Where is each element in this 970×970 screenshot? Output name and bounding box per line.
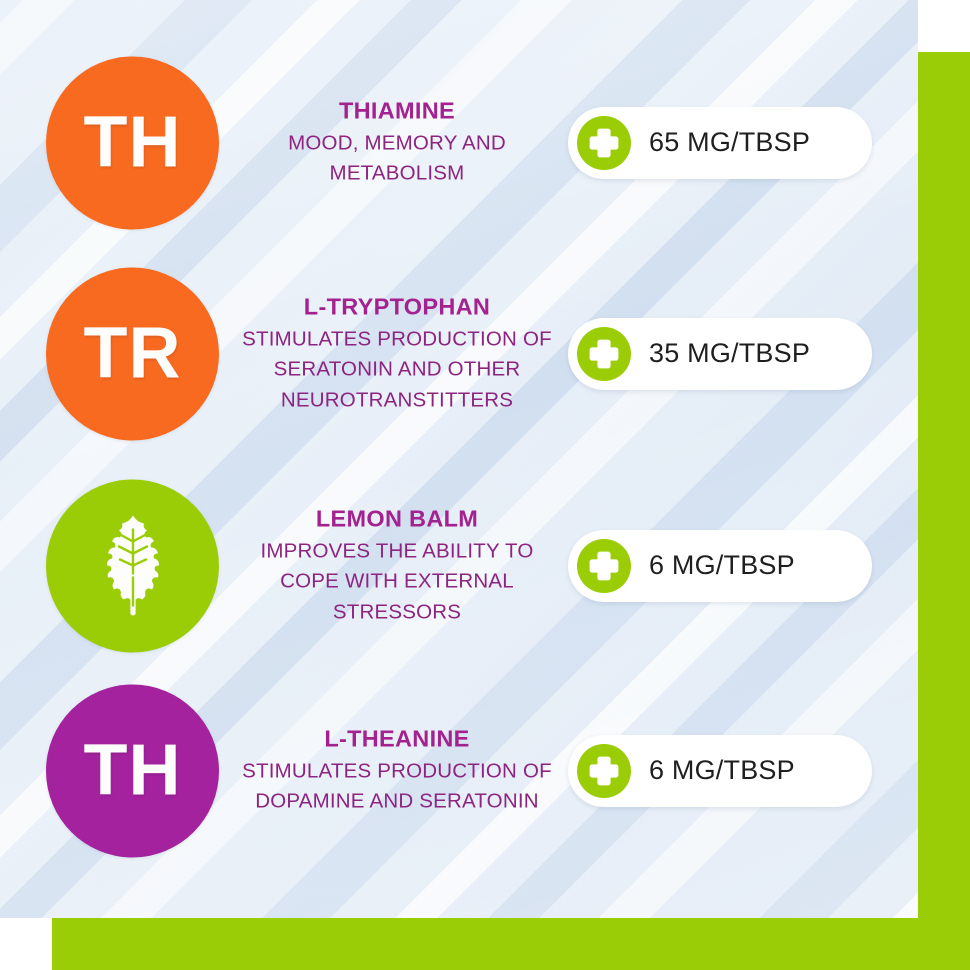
ingredient-title: L-THEANINE: [232, 724, 562, 753]
plus-icon: [577, 539, 631, 593]
ingredient-row: TH L-THEANINE STIMULATES PRODUCTION OF D…: [0, 663, 918, 878]
ingredient-list: TH THIAMINE MOOD, MEMORY AND METABOLISM …: [0, 0, 918, 918]
ingredient-description: STIMULATES PRODUCTION OF SERATONIN AND O…: [232, 324, 562, 415]
badge-abbr-label: TH: [84, 735, 182, 807]
ingredient-badge-l-tryptophan: TR: [46, 267, 219, 440]
ingredient-badge-lemon-balm: [46, 479, 219, 652]
badge-abbr-label: TR: [84, 318, 182, 390]
accent-bar-right: [918, 52, 970, 970]
dosage-value: 6 MG/TBSP: [649, 755, 795, 786]
accent-bar-bottom: [52, 918, 970, 970]
dosage-value: 6 MG/TBSP: [649, 550, 795, 581]
ingredient-row: TH THIAMINE MOOD, MEMORY AND METABOLISM …: [0, 35, 918, 250]
ingredient-row: LEMON BALM IMPROVES THE ABILITY TO COPE …: [0, 458, 918, 673]
dosage-pill: 6 MG/TBSP: [568, 735, 872, 807]
dosage-value: 65 MG/TBSP: [649, 127, 810, 158]
ingredient-badge-thiamine: TH: [46, 56, 219, 229]
ingredient-row: TR L-TRYPTOPHAN STIMULATES PRODUCTION OF…: [0, 246, 918, 461]
plus-icon: [577, 116, 631, 170]
dosage-value: 35 MG/TBSP: [649, 338, 810, 369]
plus-icon: [577, 327, 631, 381]
ingredient-text-block: LEMON BALM IMPROVES THE ABILITY TO COPE …: [232, 504, 562, 627]
ingredient-title: THIAMINE: [232, 96, 562, 125]
badge-abbr-label: TH: [84, 107, 182, 179]
infographic-canvas: TH THIAMINE MOOD, MEMORY AND METABOLISM …: [0, 0, 970, 970]
ingredient-description: IMPROVES THE ABILITY TO COPE WITH EXTERN…: [232, 536, 562, 627]
dosage-pill: 35 MG/TBSP: [568, 318, 872, 390]
ingredient-text-block: THIAMINE MOOD, MEMORY AND METABOLISM: [232, 96, 562, 189]
dosage-pill: 6 MG/TBSP: [568, 530, 872, 602]
leaf-icon: [87, 514, 179, 618]
ingredient-title: LEMON BALM: [232, 504, 562, 533]
ingredient-text-block: L-THEANINE STIMULATES PRODUCTION OF DOPA…: [232, 724, 562, 817]
ingredient-text-block: L-TRYPTOPHAN STIMULATES PRODUCTION OF SE…: [232, 292, 562, 415]
ingredient-title: L-TRYPTOPHAN: [232, 292, 562, 321]
plus-icon: [577, 744, 631, 798]
ingredient-description: STIMULATES PRODUCTION OF DOPAMINE AND SE…: [232, 756, 562, 817]
ingredient-description: MOOD, MEMORY AND METABOLISM: [232, 128, 562, 189]
dosage-pill: 65 MG/TBSP: [568, 107, 872, 179]
ingredient-badge-l-theanine: TH: [46, 684, 219, 857]
content-panel: TH THIAMINE MOOD, MEMORY AND METABOLISM …: [0, 0, 918, 918]
